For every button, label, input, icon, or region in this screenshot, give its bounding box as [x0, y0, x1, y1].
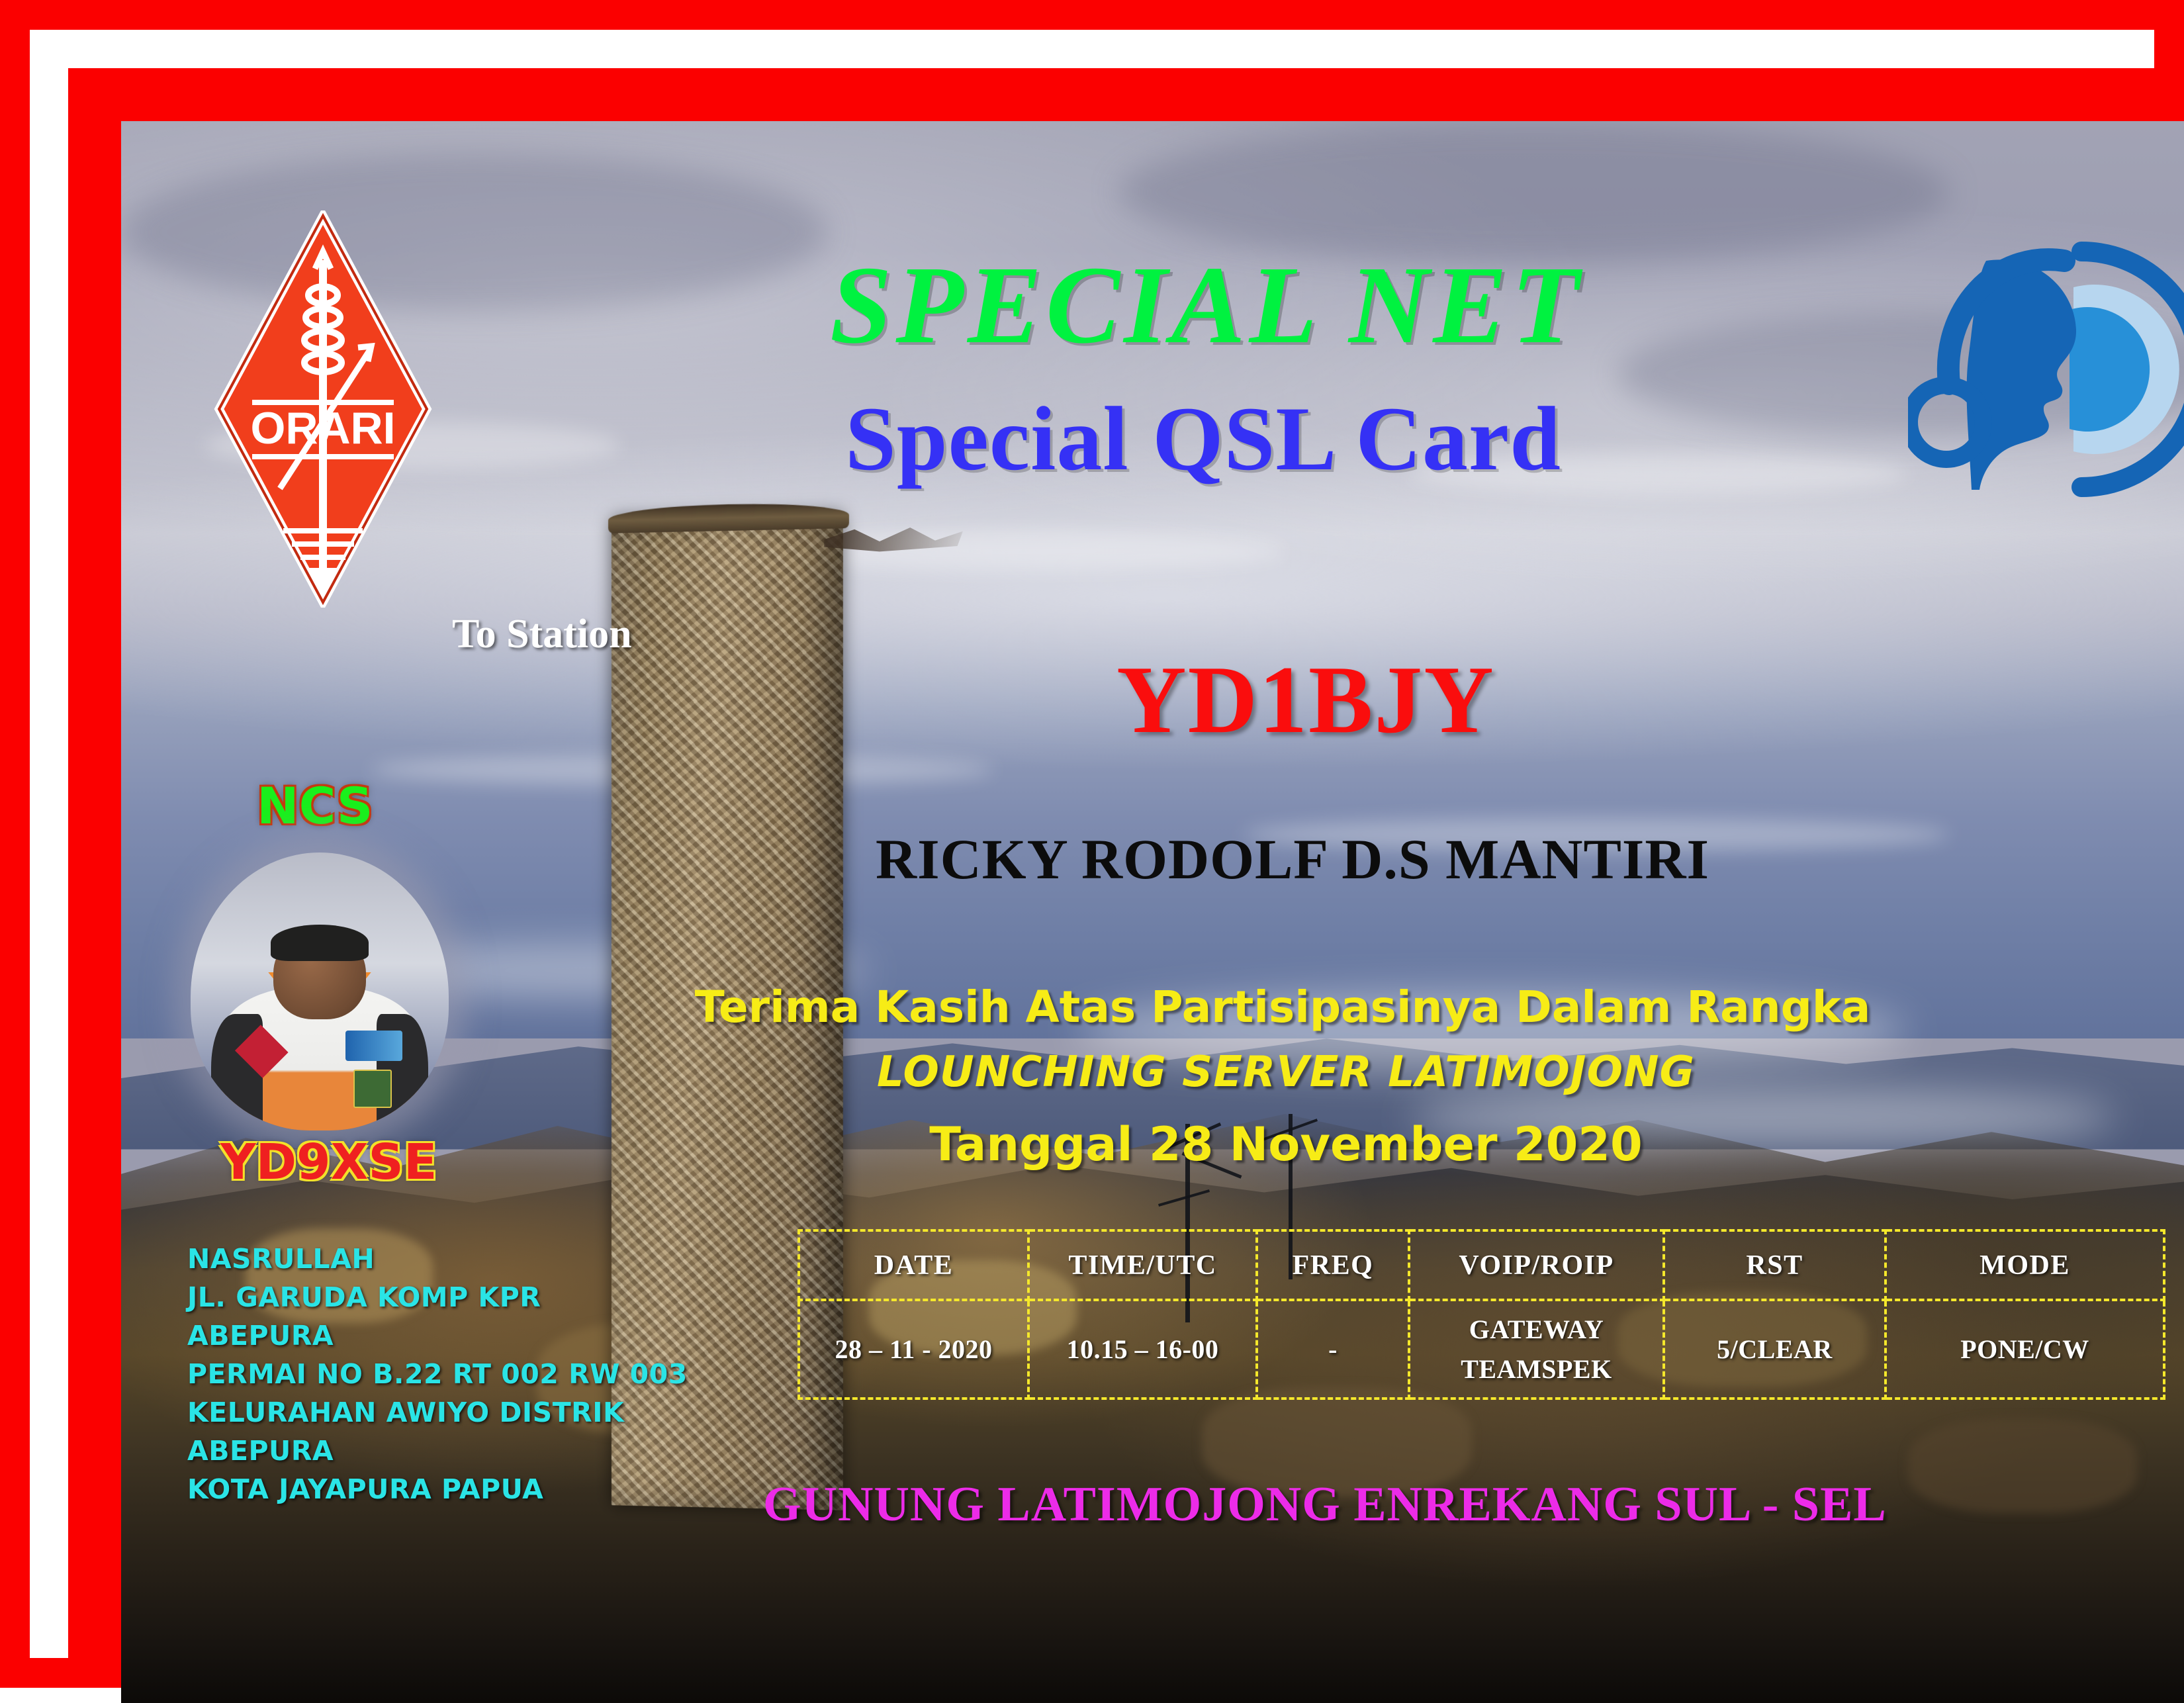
cell-voip-roip: GATEWAY TEAMSPEK	[1409, 1300, 1664, 1399]
column-header-rst: RST	[1664, 1230, 1886, 1300]
cell-rst: 5/CLEAR	[1664, 1300, 1886, 1399]
card-outer-frame: ORARI	[0, 0, 2184, 1688]
card-inner-red-frame: ORARI	[68, 68, 2175, 1679]
address-line: NASRULLAH	[187, 1240, 688, 1278]
column-header-mode: MODE	[1886, 1230, 2164, 1300]
column-header-date: DATE	[799, 1230, 1028, 1300]
address-line: ABEPURA	[187, 1316, 688, 1355]
table-header-row: DATE TIME/UTC FREQ VOIP/ROIP RST MODE	[799, 1230, 2164, 1300]
photo-hair	[271, 925, 369, 961]
qsl-photo-background: ORARI	[121, 121, 2184, 1703]
cell-date: 28 – 11 - 2020	[799, 1300, 1028, 1399]
cell-time: 10.15 – 16-00	[1028, 1300, 1257, 1399]
address-line: PERMAI NO B.22 RT 002 RW 003	[187, 1355, 688, 1393]
location-line: GUNUNG LATIMOJONG ENREKANG SUL - SEL	[763, 1477, 1887, 1533]
table-row: 28 – 11 - 2020 10.15 – 16-00 - GATEWAY T…	[799, 1300, 2164, 1399]
address-line: KELURAHAN AWIYO DISTRIK	[187, 1393, 688, 1432]
address-line: JL. GARUDA KOMP KPR	[187, 1278, 688, 1316]
photo-chest-logo	[345, 1031, 402, 1061]
sender-address-block: NASRULLAH JL. GARUDA KOMP KPR ABEPURA PE…	[187, 1240, 688, 1508]
ncs-callsign: YD9XSE	[220, 1134, 437, 1191]
column-header-freq: FREQ	[1257, 1230, 1409, 1300]
address-line: ABEPURA	[187, 1432, 688, 1470]
cell-freq: -	[1257, 1300, 1409, 1399]
recipient-callsign: YD1BJY	[121, 644, 2184, 755]
address-line: KOTA JAYAPURA PAPUA	[187, 1470, 688, 1508]
page-title: SPECIAL NET	[121, 242, 2184, 369]
cell-mode: PONE/CW	[1886, 1300, 2164, 1399]
column-header-time: TIME/UTC	[1028, 1230, 1257, 1300]
qso-log-table: DATE TIME/UTC FREQ VOIP/ROIP RST MODE 28…	[797, 1229, 2165, 1400]
card-white-frame: ORARI	[30, 30, 2154, 1658]
rock-highlight	[1908, 1418, 2136, 1513]
ncs-label: NCS	[257, 776, 373, 835]
page-subtitle: Special QSL Card	[121, 386, 2184, 491]
ncs-operator-photo	[191, 852, 449, 1130]
photo-id-badge	[353, 1070, 392, 1109]
column-header-voip-roip: VOIP/ROIP	[1409, 1230, 1664, 1300]
